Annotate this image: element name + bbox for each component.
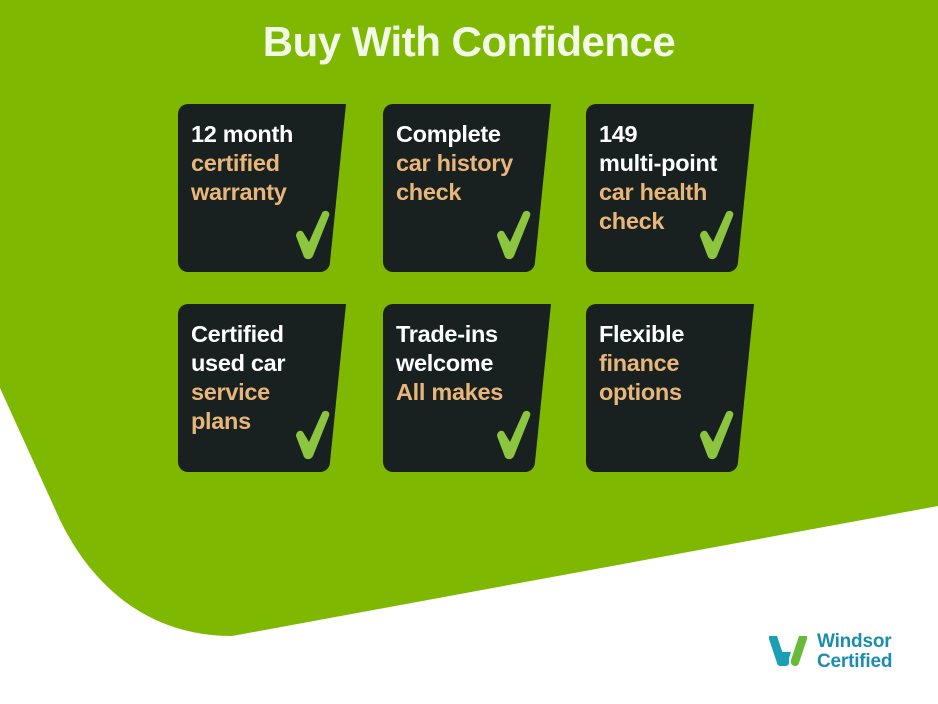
card-line-tan: car health — [599, 178, 749, 207]
windsor-w-mark-icon — [766, 632, 810, 672]
logo-wordmark: Windsor Certified — [817, 632, 892, 672]
card-line-white: Complete — [396, 120, 546, 149]
promo-banner: Buy With Confidence 12 month certified w… — [0, 0, 938, 704]
card-line-tan: check — [396, 178, 546, 207]
card-line-tan: finance — [599, 349, 749, 378]
logo-line-1: Windsor — [817, 632, 892, 652]
card-line-tan: service — [191, 378, 341, 407]
check-mark-icon — [491, 408, 537, 462]
card-line-white: Trade-ins — [396, 320, 546, 349]
check-mark-icon — [290, 408, 336, 462]
card-text: 12 month certified warranty — [191, 120, 341, 207]
logo-line-2: Certified — [817, 652, 892, 672]
feature-card-149-multi-point-car-health-check[interactable]: 149 multi-point car health check — [586, 104, 762, 272]
card-line-white: 12 month — [191, 120, 341, 149]
card-text: Complete car history check — [396, 120, 546, 207]
card-line-tan: options — [599, 378, 749, 407]
card-text: Trade-ins welcome All makes — [396, 320, 546, 407]
card-line-white: Flexible — [599, 320, 749, 349]
check-mark-icon — [694, 408, 740, 462]
windsor-certified-logo[interactable]: Windsor Certified — [766, 628, 926, 676]
card-line-tan: car history — [396, 149, 546, 178]
check-mark-icon — [491, 208, 537, 262]
card-line-white: used car — [191, 349, 341, 378]
feature-card-complete-car-history-check[interactable]: Complete car history check — [383, 104, 559, 272]
card-line-white: Certified — [191, 320, 341, 349]
card-line-tan: warranty — [191, 178, 341, 207]
check-mark-icon — [694, 208, 740, 262]
feature-card-flexible-finance-options[interactable]: Flexible finance options — [586, 304, 762, 472]
card-line-tan: All makes — [396, 378, 546, 407]
card-line-white: 149 — [599, 120, 749, 149]
feature-card-12-month-certified-warranty[interactable]: 12 month certified warranty — [178, 104, 354, 272]
card-line-white: multi-point — [599, 149, 749, 178]
feature-card-trade-ins-welcome-all-makes[interactable]: Trade-ins welcome All makes — [383, 304, 559, 472]
page-title: Buy With Confidence — [0, 18, 938, 66]
card-line-tan: certified — [191, 149, 341, 178]
check-mark-icon — [290, 208, 336, 262]
feature-card-certified-used-car-service-plans[interactable]: Certified used car service plans — [178, 304, 354, 472]
card-line-white: welcome — [396, 349, 546, 378]
feature-card-grid: 12 month certified warranty Complete car… — [178, 104, 778, 484]
card-text: Flexible finance options — [599, 320, 749, 407]
